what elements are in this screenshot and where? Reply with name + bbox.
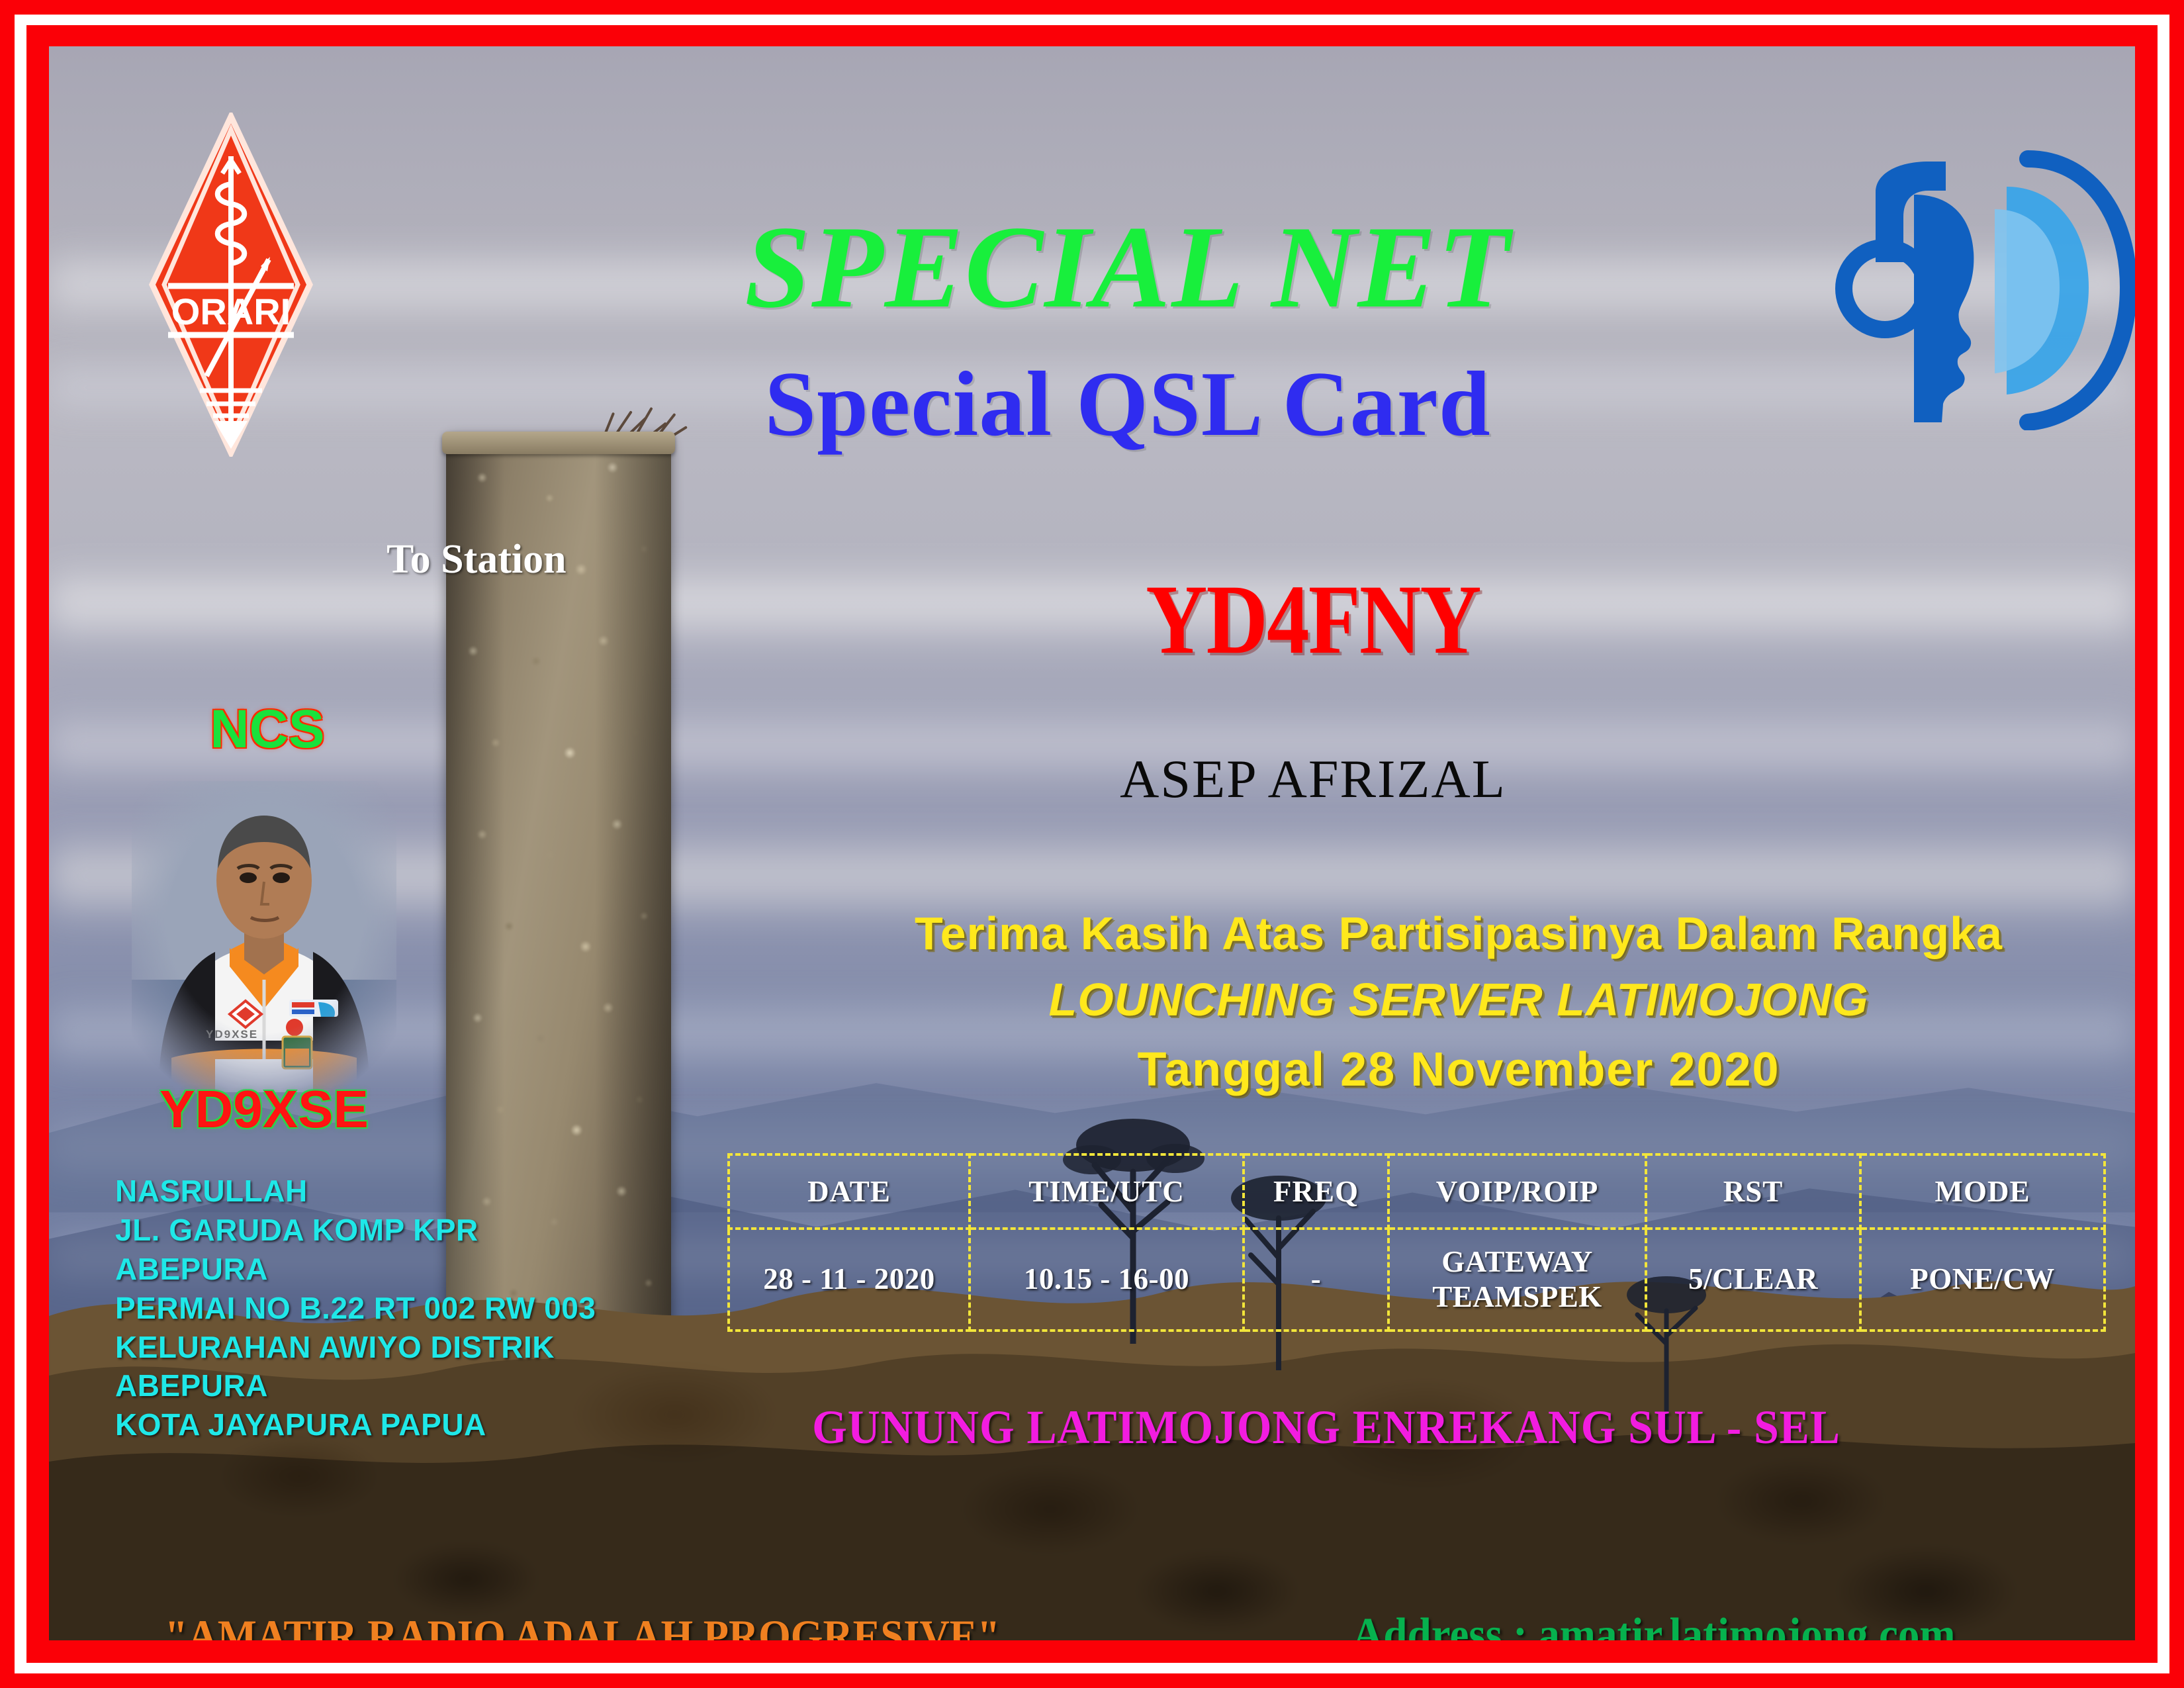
mailing-address-block: NASRULLAH JL. GARUDA KOMP KPR ABEPURA PE… (115, 1172, 711, 1444)
address-line: ABEPURA (115, 1366, 711, 1405)
ncs-operator-photo: YD9XSE (132, 781, 396, 1092)
thanks-line: Terima Kasih Atas Partisipasinya Dalam R… (803, 907, 2114, 960)
to-station-label: To Station (387, 536, 567, 583)
cell-freq: - (1244, 1229, 1388, 1331)
station-callsign: YD4FNY (1051, 563, 1574, 677)
column-header-freq: FREQ (1244, 1154, 1388, 1229)
headset-profile-logo (1829, 146, 2135, 430)
cell-voip-roip-line1: GATEWAY (1390, 1244, 1645, 1280)
address-line: ABEPURA (115, 1250, 711, 1289)
ncs-label: NCS (142, 698, 393, 761)
cell-voip-roip-line2: TEAMSPEK (1390, 1280, 1645, 1315)
column-header-time: TIME/UTC (970, 1154, 1244, 1229)
qso-log-table: DATE TIME/UTC FREQ VOIP/ROIP RST MODE 28… (727, 1153, 2106, 1332)
orari-logo: ORARI (148, 113, 314, 457)
cell-mode: PONE/CW (1860, 1229, 2105, 1331)
cell-time: 10.15 - 16-00 (970, 1229, 1244, 1331)
mountain-location-label: GUNUNG LATIMOJONG ENREKANG SUL - SEL (735, 1400, 1917, 1455)
photo-shirt-callsign: YD9XSE (206, 1028, 258, 1041)
event-date-line: Tanggal 28 November 2020 (803, 1043, 2114, 1097)
cell-rst: 5/CLEAR (1646, 1229, 1860, 1331)
cell-voip-roip: GATEWAY TEAMSPEK (1388, 1229, 1646, 1331)
address-line: JL. GARUDA KOMP KPR (115, 1211, 711, 1250)
table-row: 28 - 11 - 2020 10.15 - 16-00 - GATEWAY T… (729, 1229, 2105, 1331)
column-header-rst: RST (1646, 1154, 1860, 1229)
address-line: NASRULLAH (115, 1172, 711, 1211)
motto-text: "AMATIR RADIO ADALAH PROGRESIVE" (165, 1610, 1000, 1640)
address-line: KOTA JAYAPURA PAPUA (115, 1405, 711, 1444)
page-title-special-net: SPECIAL NET (499, 199, 1756, 335)
table-header-row: DATE TIME/UTC FREQ VOIP/ROIP RST MODE (729, 1154, 2105, 1229)
web-address-text: Address : amatir.latimojong.com (1352, 1609, 1955, 1640)
cell-date: 28 - 11 - 2020 (729, 1229, 970, 1331)
orari-logo-text: ORARI (171, 291, 291, 332)
event-line: LOUNCHING SERVER LATIMOJONG (803, 973, 2114, 1026)
ncs-callsign: YD9XSE (122, 1079, 406, 1140)
qsl-card: ORARI (0, 0, 2184, 1688)
address-line: KELURAHAN AWIYO DISTRIK (115, 1328, 711, 1367)
page-subtitle-qsl-card: Special QSL Card (499, 351, 1756, 457)
background-photograph: ORARI (49, 46, 2135, 1640)
address-line: PERMAI NO B.22 RT 002 RW 003 (115, 1289, 711, 1328)
column-header-mode: MODE (1860, 1154, 2105, 1229)
column-header-voip-roip: VOIP/ROIP (1388, 1154, 1646, 1229)
column-header-date: DATE (729, 1154, 970, 1229)
operator-name: ASEP AFRIZAL (1009, 748, 1617, 810)
